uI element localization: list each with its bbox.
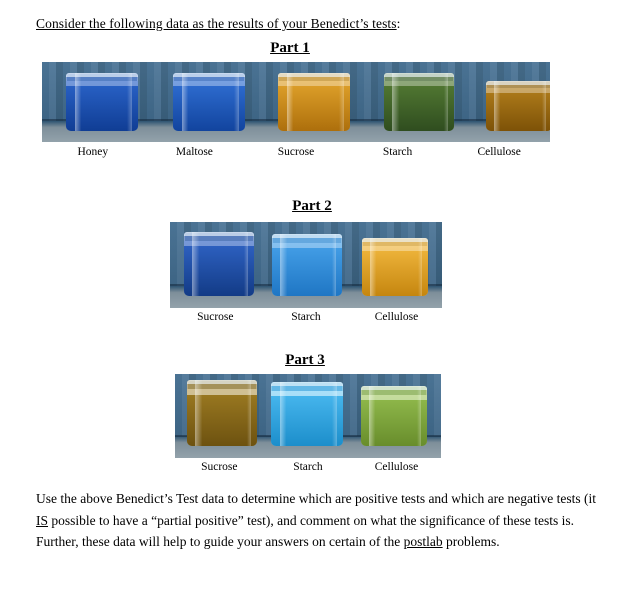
tube-highlight-right xyxy=(127,73,131,131)
tube-highlight-right xyxy=(444,73,448,131)
tube-highlight xyxy=(392,73,398,131)
document-page: Consider the following data as the resul… xyxy=(0,0,628,597)
part-1-title-text: Part 1 xyxy=(270,40,310,56)
tube-highlight-right xyxy=(332,382,336,446)
part-3-title-text: Part 3 xyxy=(285,352,325,368)
part-3-captions: Sucrose Starch Cellulose xyxy=(175,461,441,473)
part-1-caption-sucrose: Sucrose xyxy=(245,146,347,158)
tube-highlight xyxy=(494,81,500,131)
tube-rim xyxy=(173,73,245,77)
part-2-tube-cellulose xyxy=(362,238,428,296)
part-1-tube-sucrose xyxy=(278,73,350,131)
intro-underlined-text: Consider the following data as the resul… xyxy=(36,16,397,31)
part-2-tube-starch xyxy=(272,234,342,296)
tube-highlight-right xyxy=(339,73,343,131)
intro-text: Consider the following data as the resul… xyxy=(36,16,401,32)
part-3-caption-starch: Starch xyxy=(264,461,353,473)
tube-highlight xyxy=(287,73,293,131)
part-1-caption-maltose: Maltose xyxy=(144,146,246,158)
tube-highlight-right xyxy=(542,81,546,131)
tube-highlight xyxy=(192,232,198,296)
tube-highlight-right xyxy=(417,386,421,446)
part-2-photo xyxy=(170,222,442,308)
closing-underlined-postlab: postlab xyxy=(404,534,443,549)
closing-paragraph: Use the above Benedict’s Test data to de… xyxy=(36,488,596,553)
part-1-tube-honey xyxy=(66,73,138,131)
tube-highlight xyxy=(369,386,375,446)
part-3-tube-starch xyxy=(271,382,343,446)
intro-colon: : xyxy=(397,16,401,31)
tube-rim xyxy=(184,232,254,236)
tube-highlight xyxy=(280,382,286,446)
tube-highlight-right xyxy=(332,234,336,296)
tube-highlight xyxy=(280,234,286,296)
part-3-tube-sucrose xyxy=(187,380,257,446)
part-2-title-text: Part 2 xyxy=(292,198,332,214)
part-3-photo xyxy=(175,374,441,458)
tube-highlight-right xyxy=(234,73,238,131)
part-1-caption-starch: Starch xyxy=(347,146,449,158)
tube-rim xyxy=(362,238,428,242)
part-1-caption-honey: Honey xyxy=(42,146,144,158)
part-2-caption-starch: Starch xyxy=(261,311,352,323)
part-3-tube-cellulose xyxy=(361,386,427,446)
tube-rim xyxy=(66,73,138,77)
tube-rim xyxy=(272,234,342,238)
tube-rim xyxy=(278,73,350,77)
part-3-title: Part 3 xyxy=(245,352,365,369)
tube-highlight xyxy=(195,380,201,446)
part-1-tube-cellulose xyxy=(486,81,550,131)
closing-text-after: problems. xyxy=(443,534,500,549)
closing-text-before: Use the above Benedict’s Test data to de… xyxy=(36,491,596,506)
tube-highlight xyxy=(370,238,376,296)
part-2-title: Part 2 xyxy=(252,198,372,215)
tube-rim xyxy=(187,380,257,384)
part-1-photo xyxy=(42,62,550,142)
tube-highlight xyxy=(75,73,81,131)
part-1-title: Part 1 xyxy=(230,40,350,57)
tube-rim xyxy=(384,73,454,77)
tube-rim xyxy=(361,386,427,390)
part-2-caption-sucrose: Sucrose xyxy=(170,311,261,323)
part-3-caption-cellulose: Cellulose xyxy=(352,461,441,473)
part-2-captions: Sucrose Starch Cellulose xyxy=(170,311,442,323)
closing-emphasis-is: IS xyxy=(36,513,48,528)
part-2-tube-sucrose xyxy=(184,232,254,296)
part-1-tube-starch xyxy=(384,73,454,131)
part-3-caption-sucrose: Sucrose xyxy=(175,461,264,473)
part-1-captions: Honey Maltose Sucrose Starch Cellulose xyxy=(42,146,550,158)
tube-highlight-right xyxy=(244,232,248,296)
tube-highlight-right xyxy=(418,238,422,296)
tube-rim xyxy=(486,81,550,85)
part-1-tube-maltose xyxy=(173,73,245,131)
tube-rim xyxy=(271,382,343,386)
tube-highlight-right xyxy=(247,380,251,446)
part-1-caption-cellulose: Cellulose xyxy=(448,146,550,158)
tube-highlight xyxy=(182,73,188,131)
part-2-caption-cellulose: Cellulose xyxy=(351,311,442,323)
